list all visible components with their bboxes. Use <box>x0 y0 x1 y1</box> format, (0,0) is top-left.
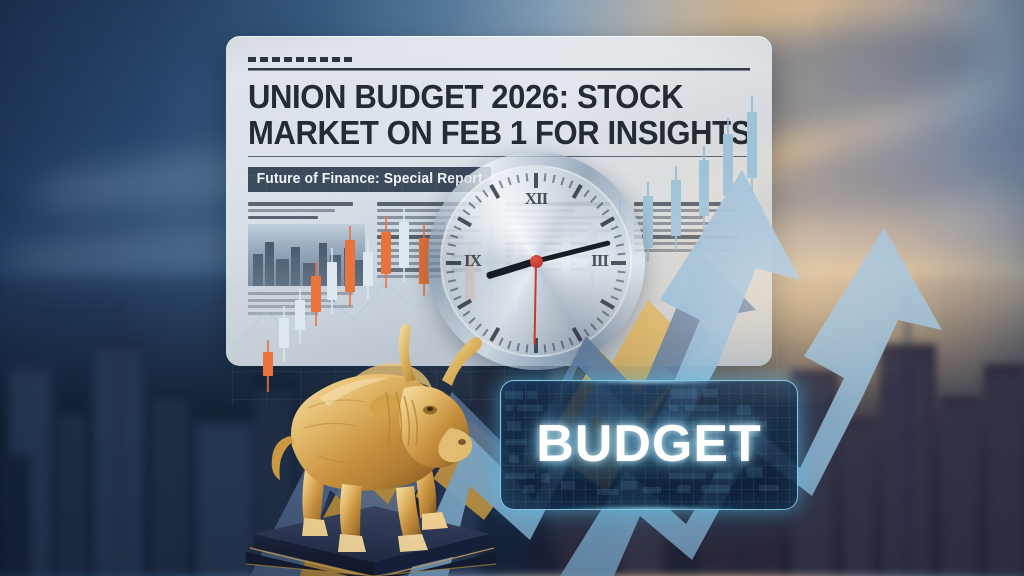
dash-mark <box>344 57 352 62</box>
clock-minute-tick <box>468 202 475 209</box>
panel-bottom-glow <box>559 506 739 510</box>
clock-second-hand <box>534 261 537 345</box>
tech-block <box>527 391 537 399</box>
clock-minute-tick <box>482 190 488 198</box>
tech-block <box>713 473 733 479</box>
tech-block <box>621 481 637 489</box>
clock-hour-tick <box>457 216 472 227</box>
tech-block <box>701 485 729 493</box>
clock-minute-tick <box>498 180 503 188</box>
clock-minute-tick <box>544 173 547 181</box>
tech-block <box>677 485 691 493</box>
tech-block <box>541 473 549 483</box>
tech-block <box>523 485 535 493</box>
clock-minute-tick <box>446 253 454 256</box>
clock-minute-tick <box>507 341 511 349</box>
clock-minute-tick <box>453 225 461 230</box>
tech-block <box>505 405 513 411</box>
clock-minute-tick <box>596 317 603 324</box>
clock-minute-tick <box>617 271 625 274</box>
clock-minute-tick <box>516 175 520 183</box>
bull-front-leg <box>340 484 362 540</box>
clock-minute-tick <box>616 279 624 283</box>
tech-block <box>505 391 523 399</box>
tech-block <box>561 481 575 489</box>
clock-minute-tick <box>450 287 458 291</box>
clock-minute-tick <box>448 279 456 283</box>
clock-minute-tick <box>475 195 482 202</box>
clock-minute-tick <box>602 209 610 215</box>
clock-minute-tick <box>614 287 622 291</box>
clock-hour-tick <box>572 184 583 199</box>
tech-block <box>703 389 717 397</box>
clock-hour-tick <box>534 173 538 188</box>
tech-block <box>643 487 661 493</box>
clock-minute-tick <box>590 323 597 330</box>
building <box>0 454 30 576</box>
clock-minute-tick <box>448 243 456 247</box>
bull-horn-right <box>442 337 482 386</box>
graphic-canvas: UNION BUDGET 2026: STOCK MARKET ON FEB 1… <box>0 0 1024 576</box>
antenna-spire <box>906 294 909 576</box>
tech-block <box>669 473 705 479</box>
clock-minute-tick <box>583 190 589 198</box>
clock-minute-tick <box>611 225 619 230</box>
clock-minute-tick <box>568 180 573 188</box>
clock-hour-tick <box>572 327 583 342</box>
dash-mark <box>260 57 268 62</box>
headline-line-1: UNION BUDGET 2026: STOCK <box>248 78 683 115</box>
budget-callout-panel[interactable]: BUDGET <box>500 380 798 510</box>
clock-numeral-12: XII <box>525 189 548 209</box>
clock-hour-tick <box>489 184 500 199</box>
clock-minute-tick <box>568 338 573 346</box>
tech-block <box>517 405 543 411</box>
clock-hour-tick <box>600 299 615 310</box>
page-title: UNION BUDGET 2026: STOCK MARKET ON FEB 1… <box>248 79 720 150</box>
tech-block <box>759 485 779 491</box>
golden-bull-statue <box>246 296 496 576</box>
clock-minute-tick <box>463 209 471 215</box>
clock-minute-tick <box>526 344 529 352</box>
clock-minute-tick <box>516 343 520 351</box>
clock-minute-tick <box>617 253 625 256</box>
building <box>842 418 876 576</box>
clock-minute-tick <box>616 243 624 247</box>
clock-minute-tick <box>544 344 547 352</box>
statue-pedestal <box>246 506 496 576</box>
newspaper-dash-marks <box>248 54 750 64</box>
tech-block <box>685 405 719 411</box>
clock-minute-tick <box>590 195 597 202</box>
clock-minute-tick <box>611 295 619 300</box>
clock-minute-tick <box>596 202 603 209</box>
dash-mark <box>308 57 316 62</box>
tech-block <box>671 389 697 399</box>
dash-mark <box>320 57 328 62</box>
tech-block <box>669 405 679 411</box>
headline-line-2: MARKET ON FEB 1 FOR INSIGHTS <box>248 115 720 151</box>
building <box>150 390 190 576</box>
dash-mark <box>248 57 256 62</box>
clock-numeral-9: IX <box>464 251 481 271</box>
dash-mark <box>332 57 340 62</box>
clock-minute-tick <box>614 234 622 238</box>
clock-minute-tick <box>552 175 556 183</box>
clock-minute-tick <box>552 343 556 351</box>
clock-minute-tick <box>446 271 454 274</box>
building <box>940 396 980 576</box>
clock-minute-tick <box>450 234 458 238</box>
building <box>984 364 1024 576</box>
clock-numeral-3: III <box>591 251 608 271</box>
clock-hour-tick <box>600 216 615 227</box>
budget-label: BUDGET <box>501 414 797 474</box>
antenna-spire <box>118 302 121 576</box>
clock-hour-tick <box>446 261 461 265</box>
dash-mark <box>272 57 280 62</box>
building <box>56 408 88 576</box>
clock-minute-tick <box>526 173 529 181</box>
clock-minute-tick <box>498 338 503 346</box>
clock-minute-tick <box>602 310 610 316</box>
clock-minute-tick <box>560 341 564 349</box>
tech-block <box>597 489 619 495</box>
dash-mark <box>284 57 292 62</box>
tech-block <box>505 473 535 479</box>
clock-minute-tick <box>507 177 511 185</box>
dash-mark <box>296 57 304 62</box>
clock-center-cap <box>530 255 543 268</box>
clock-minute-tick <box>583 329 589 337</box>
masthead-rule <box>248 68 750 71</box>
clock-minute-tick <box>560 177 564 185</box>
clock-hour-tick <box>611 261 626 265</box>
